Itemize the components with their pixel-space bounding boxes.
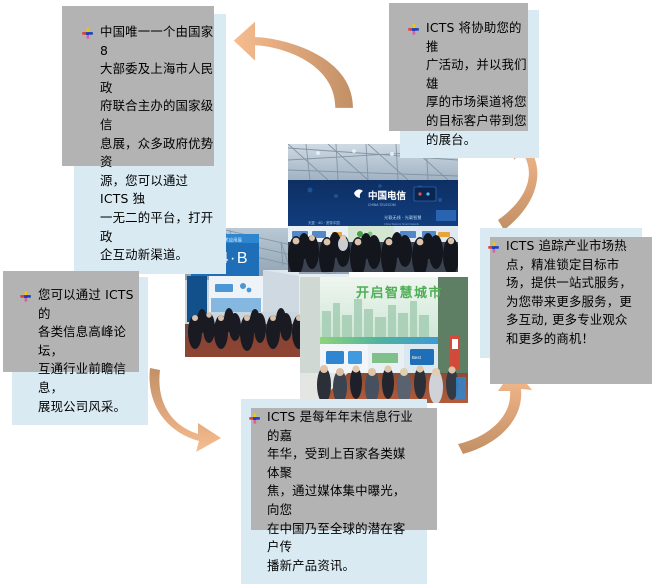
market-tracking-callout-text: ICTS 追踪产业市场热 点，精准锁定目标市 场，提供一站式服务， 为您带来更多… [506, 237, 632, 349]
svg-text:China Telecom Smart Network: China Telecom Smart Network [384, 222, 420, 226]
pinwheel-bullet-icon [488, 240, 499, 251]
forum-callout[interactable]: 您可以通过 ICTS 的 各类信息高峰论坛， 互通行业前瞻信息， 展现公司风采。 [12, 277, 148, 425]
pinwheel-bullet-icon [20, 289, 31, 300]
pinwheel-bullet-icon [82, 26, 93, 37]
arrow-forum-to-carnival [149, 368, 221, 452]
svg-text:中国电信: 中国电信 [368, 190, 407, 202]
forum-callout-text: 您可以通过 ICTS 的 各类信息高峰论坛， 互通行业前瞻信息， 展现公司风采。 [38, 286, 138, 416]
promotion-callout[interactable]: ICTS 将协助您的推 广活动，并以我们雄 厚的市场渠道将您 的目标客户带到您 … [400, 10, 539, 158]
arrow-promo-to-gov [234, 22, 353, 108]
svg-text:光载无线 · 光载智慧: 光载无线 · 光载智慧 [384, 214, 422, 221]
svg-text:开启智慧城市: 开启智慧城市 [356, 285, 443, 301]
carnival-callout[interactable]: ICTS 是每年年末信息行业的嘉 年华，受到上百家各类媒体聚 焦，通过媒体集中曝… [241, 399, 427, 584]
carnival-callout-text: ICTS 是每年年末信息行业的嘉 年华，受到上百家各类媒体聚 焦，通过媒体集中曝… [267, 408, 417, 575]
pinwheel-bullet-icon [408, 22, 419, 33]
pinwheel-bullet-icon [249, 411, 260, 422]
svg-text:天翼 · 4G · 宽带中国: 天翼 · 4G · 宽带中国 [308, 220, 340, 225]
market-tracking-callout[interactable]: ICTS 追踪产业市场热 点，精准锁定目标市 场，提供一站式服务， 为您带来更多… [480, 228, 642, 358]
svg-text:CHINA TELECOM: CHINA TELECOM [368, 203, 396, 207]
government-callout-text: 中国唯一一个由国家 8 大部委及上海市人民政 府联合主办的国家级信 息展，众多政… [100, 23, 216, 265]
svg-text:Best: Best [412, 355, 422, 360]
promotion-callout-text: ICTS 将协助您的推 广活动，并以我们雄 厚的市场渠道将您 的目标客户带到您 … [426, 19, 529, 149]
government-callout[interactable]: 中国唯一一个由国家 8 大部委及上海市人民政 府联合主办的国家级信 息展，众多政… [74, 14, 226, 274]
photo-smart-city-booth: 开启智慧城市 Best [300, 277, 468, 403]
photo-china-telecom-booth: 中国电信 CHINA TELECOM 光载无线 · 光载智慧 China Tel… [288, 144, 458, 272]
cycle-diagram: 信息与通信技术应用展 W4·B [0, 0, 657, 529]
